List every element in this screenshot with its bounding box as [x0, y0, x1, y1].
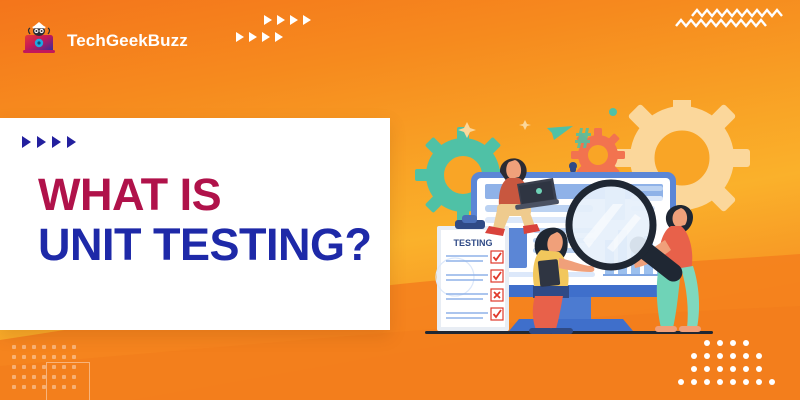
dot	[691, 379, 697, 385]
dot	[756, 353, 762, 359]
paper-plane-icon	[547, 126, 573, 140]
chevron-right-icon	[264, 15, 272, 25]
dot	[717, 379, 723, 385]
dot	[743, 379, 749, 385]
card-decor-chevrons	[22, 136, 76, 148]
brand-name-label: TechGeekBuzz	[67, 31, 188, 51]
page-title: WHAT IS UNIT TESTING?	[38, 173, 371, 266]
chevron-right-icon	[52, 136, 61, 148]
dot	[32, 345, 36, 349]
dot	[12, 385, 16, 389]
dot	[22, 375, 26, 379]
dot	[12, 345, 16, 349]
dot	[52, 345, 56, 349]
chevron-right-icon	[303, 15, 311, 25]
chevron-right-icon	[249, 32, 257, 42]
dot	[743, 366, 749, 372]
unit-testing-illustration: TESTING	[415, 100, 800, 345]
checkbox	[491, 270, 503, 282]
dot	[704, 366, 710, 372]
dot	[691, 366, 697, 372]
banner-root: TechGeekBuzz	[0, 0, 800, 400]
dot	[717, 353, 723, 359]
dot	[704, 353, 710, 359]
chevron-right-icon	[67, 136, 76, 148]
dot	[22, 355, 26, 359]
title-line-1: WHAT IS	[38, 173, 371, 216]
clipboard-title: TESTING	[453, 238, 492, 248]
dot	[62, 345, 66, 349]
dot	[22, 365, 26, 369]
dot	[12, 355, 16, 359]
dot	[743, 353, 749, 359]
dot	[756, 379, 762, 385]
dot	[756, 366, 762, 372]
decor-square-outline-bottom-left	[46, 362, 90, 400]
decor-chevrons-row-lower	[236, 32, 283, 42]
chevron-right-icon	[290, 15, 298, 25]
dot	[32, 375, 36, 379]
dot	[678, 353, 684, 359]
headline-card: WHAT IS UNIT TESTING?	[0, 118, 390, 330]
decor-zigzag-top-right	[674, 8, 794, 39]
dot	[32, 355, 36, 359]
dot	[42, 355, 46, 359]
dot	[730, 353, 736, 359]
dot	[52, 355, 56, 359]
chevron-right-icon	[236, 32, 244, 42]
techgeekbuzz-logo-icon	[22, 22, 56, 59]
decor-chevrons-row-upper	[264, 15, 311, 25]
decor-dot-triangle-bottom-right	[678, 340, 782, 392]
chevron-right-icon	[37, 136, 46, 148]
chevron-right-icon	[275, 32, 283, 42]
dot	[42, 345, 46, 349]
checkbox	[491, 251, 503, 263]
dot	[769, 366, 775, 372]
dot	[32, 385, 36, 389]
chevron-right-icon	[277, 15, 285, 25]
chevron-right-icon	[22, 136, 31, 148]
dot	[22, 385, 26, 389]
title-line-2: UNIT TESTING?	[38, 223, 371, 266]
dot	[12, 365, 16, 369]
dot	[730, 379, 736, 385]
dot	[704, 379, 710, 385]
checkbox	[491, 308, 503, 320]
chevron-right-icon	[262, 32, 270, 42]
dot	[678, 366, 684, 372]
dot	[769, 353, 775, 359]
dot	[72, 345, 76, 349]
dot	[32, 365, 36, 369]
dot	[717, 366, 723, 372]
dot	[730, 366, 736, 372]
dot	[72, 355, 76, 359]
dot	[691, 353, 697, 359]
dot	[678, 379, 684, 385]
dot	[769, 379, 775, 385]
dot-decor	[609, 108, 617, 116]
dot	[12, 375, 16, 379]
brand-logo-group[interactable]: TechGeekBuzz	[22, 22, 188, 59]
dot	[62, 355, 66, 359]
dot	[22, 345, 26, 349]
